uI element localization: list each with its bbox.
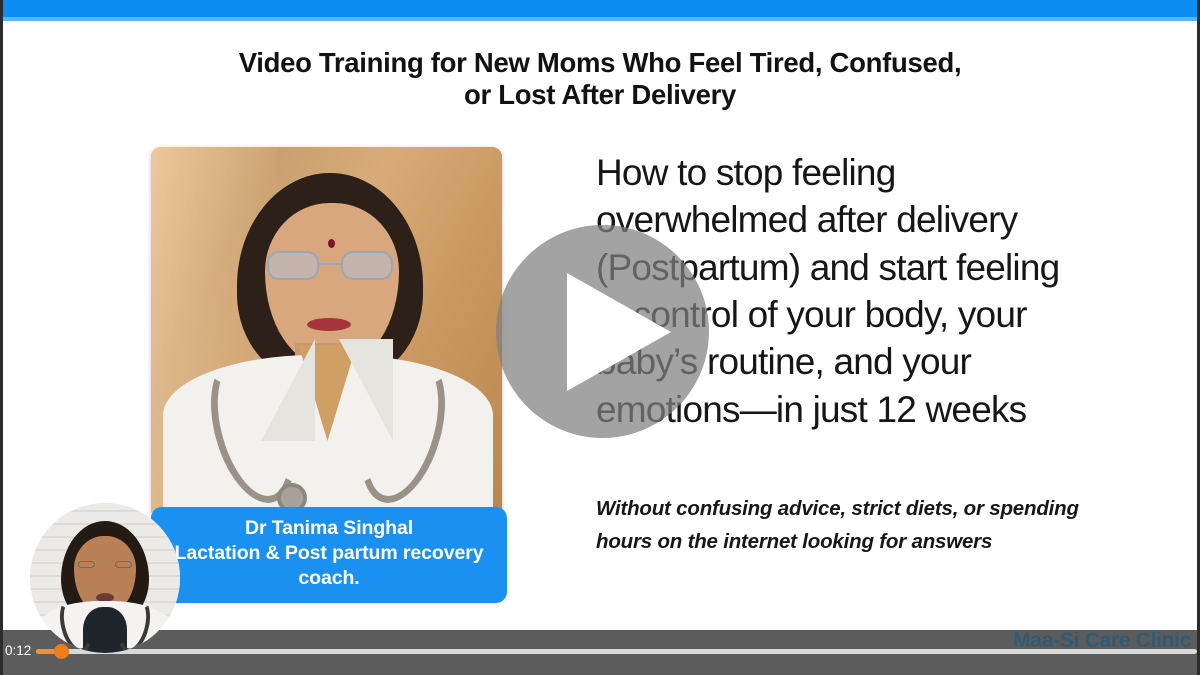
webcam-eye-right: [115, 561, 132, 568]
webcam-eye-left: [78, 561, 95, 568]
photo-bindi: [328, 239, 335, 248]
slide-subheadline: Without confusing advice, strict diets, …: [596, 492, 1088, 558]
speaker-title-line-1: Lactation & Post partum recovery: [161, 541, 497, 566]
speaker-title-line-2: coach.: [161, 566, 497, 591]
webcam-overlay[interactable]: [30, 503, 180, 653]
video-player[interactable]: Video Training for New Moms Who Feel Tir…: [0, 0, 1200, 675]
photo-lips: [307, 318, 351, 331]
play-button[interactable]: [496, 225, 709, 438]
speaker-photo: [151, 147, 502, 519]
page-title-line-1: Video Training for New Moms Who Feel Tir…: [73, 47, 1127, 79]
brand-watermark: Maa-Si Care Clinic: [1013, 629, 1191, 653]
top-accent-bar: [3, 0, 1197, 17]
slide-canvas: Video Training for New Moms Who Feel Tir…: [3, 21, 1197, 630]
play-triangle-icon: [567, 273, 671, 391]
photo-glasses-bridge: [319, 263, 341, 265]
current-time-label: 0:12: [5, 643, 31, 658]
glasses-icon: [267, 251, 393, 281]
speaker-name: Dr Tanima Singhal: [161, 516, 497, 541]
photo-lens-right: [341, 251, 393, 280]
page-title: Video Training for New Moms Who Feel Tir…: [3, 47, 1197, 112]
page-title-line-2: or Lost After Delivery: [73, 79, 1127, 111]
photo-lens-left: [267, 251, 319, 280]
speaker-name-card: Dr Tanima Singhal Lactation & Post partu…: [151, 507, 507, 603]
